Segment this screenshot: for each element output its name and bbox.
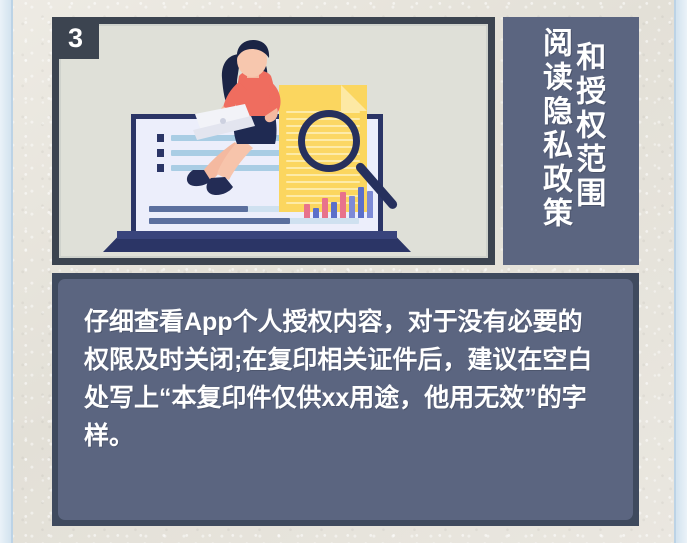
illustration-frame: 3 [52,17,495,265]
woman-sitting-icon [179,38,309,223]
body-text: 仔细查看App个人授权内容，对于没有必要的权限及时关闭;在复印相关证件后，建议在… [84,303,607,455]
right-edge-line [674,0,676,543]
title-panel: 和授权范围 阅读隐私政策 [503,17,639,265]
bar-chart-icon [304,184,373,218]
bullet-icon [157,149,164,157]
bullet-icon [157,134,164,142]
bullet-icon [157,164,164,172]
document-fold [341,85,367,111]
illustration-canvas [59,24,488,258]
body-text-panel: 仔细查看App个人授权内容，对于没有必要的权限及时关闭;在复印相关证件后，建议在… [52,273,639,526]
top-row: 3 和授权范围 阅读隐私政策 [52,17,639,265]
body-text-inner: 仔细查看App个人授权内容，对于没有必要的权限及时关闭;在复印相关证件后，建议在… [58,279,633,520]
poster-root: 3 和授权范围 阅读隐私政策 仔细查看App个人授权内容，对于没有必要的权限及时… [0,0,687,543]
title-column-right: 和授权范围 [572,27,603,255]
left-edge-line [11,0,13,543]
laptop-hinge [117,231,397,239]
title-column-left: 阅读隐私政策 [539,27,570,255]
step-number-badge: 3 [52,17,99,59]
